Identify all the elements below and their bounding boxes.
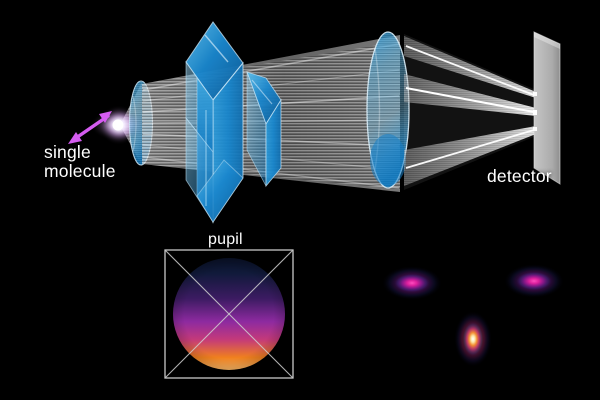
tube-lens [367,32,409,188]
label-single-molecule: single molecule [44,143,116,181]
psf-top-left [393,273,431,293]
schematic-canvas [0,0,600,400]
psf-top-right [515,271,553,291]
pupil-panel [165,250,293,378]
psf-bottom [462,321,484,357]
label-detector: detector [487,167,552,186]
optical-schematic-figure: single molecule pupil detector [0,0,600,400]
label-pupil: pupil [208,230,243,249]
detector-plate [533,32,560,184]
